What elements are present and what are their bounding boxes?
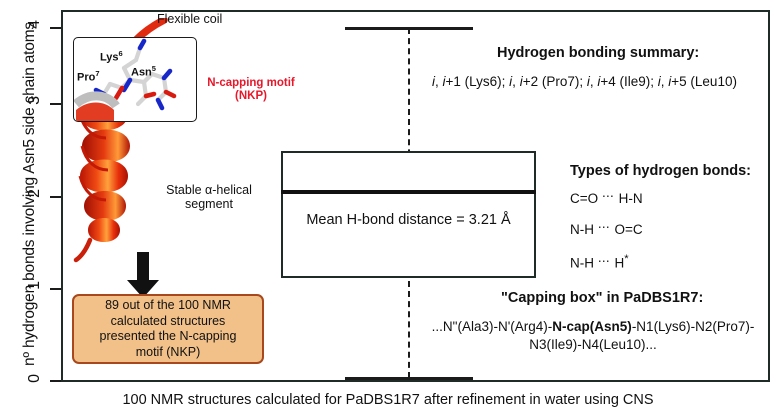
capping-box-title: "Capping box" in PaDBS1R7: — [501, 290, 703, 306]
residue-label-lys: Lys6 — [100, 49, 123, 64]
ncapping-result-callout: 89 out of the 100 NMR calculated structu… — [72, 294, 264, 364]
y-tick-label-0: 0 — [26, 374, 44, 392]
boxplot-mean-label: Mean H-bond distance = 3.21 Å — [281, 212, 536, 228]
n-capping-motif-label-line2: (NKP) — [235, 90, 267, 102]
capping-seq-pre: ...N"(Ala3)-N'(Arg4)- — [432, 319, 553, 334]
y-tick-label-2: 2 — [26, 189, 44, 207]
figure-root: nº hydrogen bonds involving Asn5 side ch… — [0, 0, 776, 420]
callout-line-2: calculated structures — [111, 314, 226, 328]
boxplot-whisker-cap-lower — [345, 377, 473, 380]
stable-helix-label-line1: Stable α-helical — [166, 183, 252, 197]
ncapping-result-text: 89 out of the 100 NMR calculated structu… — [96, 298, 241, 360]
figure-caption: 100 NMR structures calculated for PaDBS1… — [0, 392, 776, 408]
hbond-summary-title: Hydrogen bonding summary: — [497, 45, 699, 61]
hbond-summary-items: i, i+1 (Lys6); i, i+2 (Pro7); i, i+4 (Il… — [432, 74, 737, 89]
y-tick-label-1: 1 — [26, 281, 44, 299]
y-tick-mark-0 — [50, 380, 61, 382]
residue-label-pro: Pro7 — [77, 69, 100, 84]
n-capping-motif-label-line1: N-capping motif — [207, 77, 295, 89]
callout-line-3: presented the N-capping — [100, 329, 237, 343]
boxplot-whisker-cap-upper — [345, 27, 473, 30]
capping-seq-ncap: N-cap(Asn5) — [552, 319, 632, 334]
hbond-type-2: N-H ⋯ O=C — [570, 222, 643, 237]
y-tick-label-4: 4 — [26, 20, 44, 38]
stable-helix-label-line2: segment — [185, 197, 233, 211]
hbond-type-1: C=O ⋯ H-N — [570, 191, 643, 206]
callout-line-4: motif (NKP) — [136, 345, 201, 359]
capping-box-sequence: ...N"(Ala3)-N'(Arg4)-N-cap(Asn5)-N1(Lys6… — [420, 318, 766, 353]
n-capping-motif-label: N-capping motif (NKP) — [199, 77, 303, 103]
callout-line-1: 89 out of the 100 NMR — [105, 298, 231, 312]
y-tick-mark-1 — [50, 288, 61, 290]
residue-inset-box: Lys6 Pro7 Asn5 — [73, 37, 197, 122]
flexible-coil-label: Flexible coil — [157, 12, 222, 26]
down-arrow-icon — [126, 252, 160, 298]
y-tick-label-3: 3 — [26, 96, 44, 114]
residue-label-asn: Asn5 — [131, 64, 156, 79]
hbond-types-title: Types of hydrogen bonds: — [570, 163, 751, 179]
boxplot-median-line — [281, 190, 536, 194]
stable-helix-label: Stable α-helical segment — [161, 183, 257, 212]
hbond-type-3: N-H ⋯ H* — [570, 253, 629, 271]
